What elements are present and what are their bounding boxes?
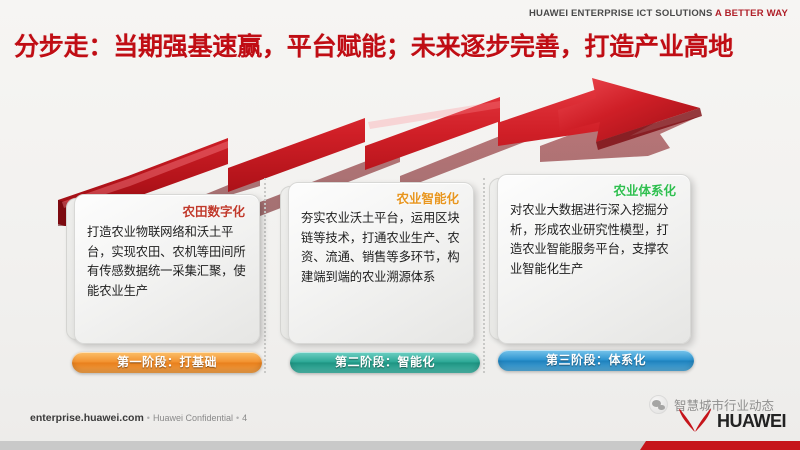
card-body-1: 打造农业物联网络和沃土平台，实现农田、农机等田间所有传感数据统一采集汇聚，使能农…: [87, 223, 249, 301]
huawei-wordmark: HUAWEI: [717, 411, 786, 432]
card-body-3: 对农业大数据进行深入挖掘分析，形成农业研究性模型，打造农业智能服务平台，支撑农业…: [510, 201, 680, 279]
slide-canvas: HUAWEI ENTERPRISE ICT SOLUTIONS A BETTER…: [0, 0, 800, 450]
stage-pill-2[interactable]: 第二阶段：智能化: [290, 352, 480, 373]
stage-card-3[interactable]: 农业体系化 对农业大数据进行深入挖掘分析，形成农业研究性模型，打造农业智能服务平…: [497, 174, 691, 344]
footer-meta: enterprise.huawei.com•Huawei Confidentia…: [30, 412, 247, 424]
card-title-2: 农业智能化: [396, 188, 459, 207]
stage-pill-1[interactable]: 第一阶段：打基础: [72, 352, 262, 373]
footer-site: enterprise.huawei.com: [30, 412, 144, 424]
huawei-flower-icon: [678, 409, 712, 433]
huawei-logo: HUAWEI: [678, 409, 786, 433]
tagline-main: HUAWEI ENTERPRISE ICT SOLUTIONS: [529, 8, 713, 19]
footer-confidential: Huawei Confidential: [153, 413, 233, 423]
footer-sep-1: •: [144, 413, 153, 423]
card-title-3: 农业体系化: [613, 180, 676, 199]
wechat-icon: [649, 395, 668, 414]
stage-pill-3[interactable]: 第三阶段：体系化: [498, 350, 694, 371]
column-divider-2: [483, 178, 485, 373]
card-title-1: 农田数字化: [182, 201, 245, 220]
stage-card-1[interactable]: 农田数字化 打造农业物联网络和沃土平台，实现农田、农机等田间所有传感数据统一采集…: [74, 194, 260, 344]
footer-sep-2: •: [233, 413, 242, 423]
card-body-2: 夯实农业沃土平台，运用区块链等技术，打通农业生产、农资、流通、销售等多环节，构建…: [301, 209, 463, 287]
footer-page-number: 4: [242, 413, 247, 423]
tagline-accent: A BETTER WAY: [715, 8, 788, 19]
page-title: 分步走：当期强基速赢，平台赋能；未来逐步完善，打造产业高地: [14, 27, 794, 63]
stage-card-2[interactable]: 农业智能化 夯实农业沃土平台，运用区块链等技术，打通农业生产、农资、流通、销售等…: [288, 182, 474, 344]
arrow-head: [558, 78, 702, 150]
column-divider-1: [264, 178, 266, 373]
arrow-highlight-2: [368, 101, 500, 129]
footer-bar-accent: [640, 441, 800, 450]
huawei-tagline: HUAWEI ENTERPRISE ICT SOLUTIONS A BETTER…: [529, 8, 788, 19]
